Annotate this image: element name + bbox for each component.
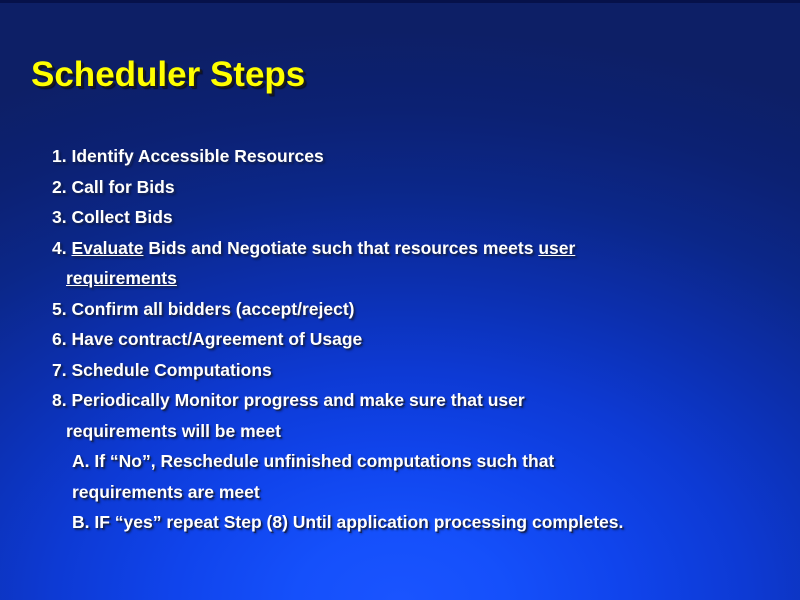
list-item: 7. Schedule Computations [52, 355, 778, 386]
step-number: 5. [52, 299, 67, 319]
list-item: 3. Collect Bids [52, 202, 778, 233]
list-item-sub-a: A. If “No”, Reschedule unfinished comput… [52, 446, 778, 507]
step-number: 2. [52, 177, 67, 197]
list-item: 1. Identify Accessible Resources [52, 141, 778, 172]
step-text: Confirm all bidders (accept/reject) [71, 299, 354, 319]
step-text: Collect Bids [71, 207, 172, 227]
list-item: 4. Evaluate Bids and Negotiate such that… [52, 233, 778, 294]
step-number: 3. [52, 207, 67, 227]
step-number: 8. [52, 390, 67, 410]
step-text-underlined-requirements: requirements [66, 268, 177, 288]
slide-title: Scheduler Steps [31, 55, 305, 95]
step-text: Periodically Monitor progress and make s… [71, 390, 524, 410]
step-number: 1. [52, 146, 67, 166]
step-number: 6. [52, 329, 67, 349]
list-item-sub-b: B. IF “yes” repeat Step (8) Until applic… [52, 507, 778, 538]
list-item: 2. Call for Bids [52, 172, 778, 203]
step-text: Bids and Negotiate such that resources m… [143, 238, 538, 258]
list-item: 6. Have contract/Agreement of Usage [52, 324, 778, 355]
list-item: 8. Periodically Monitor progress and mak… [52, 385, 778, 446]
substep-text: B. IF “yes” repeat Step (8) Until applic… [72, 512, 623, 532]
step-text: Call for Bids [71, 177, 174, 197]
presentation-slide: Scheduler Steps 1. Identify Accessible R… [0, 0, 800, 600]
step-number: 7. [52, 360, 67, 380]
step-text-underlined-evaluate: Evaluate [71, 238, 143, 258]
step-text: Have contract/Agreement of Usage [71, 329, 362, 349]
substep-text: A. If “No”, Reschedule unfinished comput… [72, 451, 554, 471]
step-continuation: requirements will be meet [52, 416, 778, 447]
step-text: Identify Accessible Resources [71, 146, 323, 166]
slide-top-edge [0, 0, 800, 3]
step-number: 4. [52, 238, 67, 258]
step-continuation: requirements [52, 263, 778, 294]
step-text-underlined-user: user [538, 238, 575, 258]
slide-body: 1. Identify Accessible Resources 2. Call… [52, 141, 778, 538]
list-item: 5. Confirm all bidders (accept/reject) [52, 294, 778, 325]
substep-continuation: requirements are meet [72, 477, 778, 508]
step-text: Schedule Computations [71, 360, 271, 380]
